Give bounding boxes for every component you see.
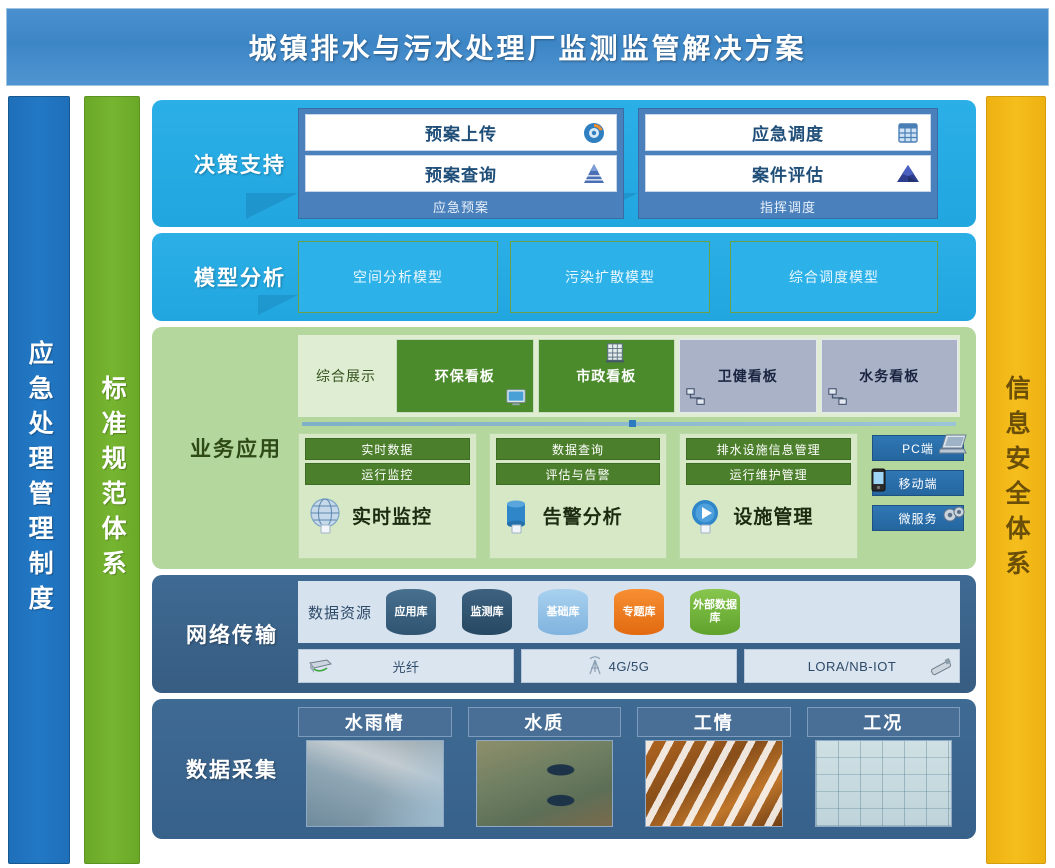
model-box-integrated-dispatch[interactable]: 综合调度模型 <box>730 241 938 313</box>
sensor-module-icon <box>929 656 955 676</box>
database-external-label: 外部数据库 <box>690 599 740 624</box>
client-button-mobile[interactable]: 移动端 <box>872 470 964 496</box>
layer-business-application: 业务应用 综合展示 环保看板 市政看板 <box>152 327 976 569</box>
decision-item-plan-query[interactable]: 预案查询 <box>305 155 617 192</box>
business-column-query: 数据查询 评估与告警 <box>489 433 668 559</box>
dashboard-municipal[interactable]: 市政看板 <box>538 339 676 413</box>
business-chip-data-query[interactable]: 数据查询 <box>496 438 661 460</box>
pillar-standard-system: 标准规范体系 <box>84 96 140 864</box>
database-monitoring[interactable]: 监测库 <box>462 589 512 635</box>
database-foundation-label: 基础库 <box>547 606 580 619</box>
monitor-icon <box>505 386 527 408</box>
database-application[interactable]: 应用库 <box>386 589 436 635</box>
layer-data-acquisition: 数据采集 水雨情 水质 工情 <box>152 699 976 839</box>
network-transport-cellular-label: 4G/5G <box>609 659 650 674</box>
database-external[interactable]: 外部数据库 <box>690 589 740 635</box>
acquisition-card-works-status-title: 工情 <box>694 709 734 735</box>
decision-item-case-assessment-label: 案件评估 <box>752 161 824 186</box>
business-chip-assessment-alarm[interactable]: 评估与告警 <box>496 463 661 485</box>
solution-architecture-diagram: 城镇排水与污水处理厂监测监管解决方案 应急处理管理制度 标准规范体系 信息安全体… <box>0 0 1055 868</box>
business-chip-drainage-facility-info-label: 排水设施信息管理 <box>717 441 821 458</box>
decision-item-emergency-dispatch-label: 应急调度 <box>752 120 824 145</box>
treatment-plant-photo <box>476 740 614 827</box>
business-feature-alarm-analysis[interactable]: 告警分析 <box>496 495 661 535</box>
network-transport-lora-label: LORA/NB-IOT <box>808 659 897 674</box>
refresh-cycle-icon <box>582 121 606 145</box>
business-feature-realtime-monitoring-label: 实时监控 <box>352 502 432 529</box>
acquisition-card-works-status[interactable]: 工情 <box>637 707 791 831</box>
network-transport-list: 光纤 4G/5G LORA/NB-IOT <box>298 649 960 683</box>
network-transport-fiber-label: 光纤 <box>392 657 419 676</box>
page-title-bar: 城镇排水与污水处理厂监测监管解决方案 <box>6 8 1049 86</box>
business-feature-alarm-analysis-label: 告警分析 <box>543 502 623 529</box>
model-box-pollution-diffusion[interactable]: 污染扩散模型 <box>510 241 710 313</box>
business-feature-facility-management[interactable]: 设施管理 <box>686 495 851 535</box>
network-data-resources-caption: 数据资源 <box>308 602 372 623</box>
building-icon <box>604 342 626 364</box>
mobile-phone-icon <box>863 467 893 493</box>
business-feature-facility-management-label: 设施管理 <box>733 502 813 529</box>
business-chip-operation-maintenance-label: 运行维护管理 <box>730 466 808 483</box>
pyramid-icon <box>582 162 606 186</box>
acquisition-card-operating-condition-title: 工况 <box>863 709 903 735</box>
pillar-information-security: 信息安全体系 <box>986 96 1046 864</box>
buried-pipe-photo <box>645 740 783 827</box>
acquisition-card-water-quality[interactable]: 水质 <box>468 707 622 831</box>
acquisition-card-operating-condition[interactable]: 工况 <box>807 707 961 831</box>
layer-data-acquisition-label: 数据采集 <box>162 699 302 839</box>
business-chip-operation-monitoring-label: 运行监控 <box>361 466 413 483</box>
layer-decision-support: 决策支持 预案上传 预案查询 <box>152 100 976 227</box>
layer-stack: 决策支持 预案上传 预案查询 <box>152 100 976 864</box>
decision-group-command-dispatch-caption: 指挥调度 <box>645 196 931 216</box>
business-feature-realtime-monitoring[interactable]: 实时监控 <box>305 495 470 535</box>
business-chip-realtime-data-label: 实时数据 <box>361 441 413 458</box>
model-box-integrated-dispatch-label: 综合调度模型 <box>789 267 879 287</box>
fiber-switch-icon <box>307 656 333 676</box>
decision-item-plan-query-label: 预案查询 <box>425 161 497 186</box>
business-chip-operation-maintenance[interactable]: 运行维护管理 <box>686 463 851 485</box>
model-box-pollution-diffusion-label: 污染扩散模型 <box>565 267 655 287</box>
network-transport-cellular[interactable]: 4G/5G <box>521 649 737 683</box>
acquisition-card-hydrology-head: 水雨情 <box>298 707 452 737</box>
business-section-divider <box>302 422 956 426</box>
business-dashboard-caption: 综合展示 <box>298 335 394 417</box>
database-application-label: 应用库 <box>395 606 428 619</box>
business-column-facility: 排水设施信息管理 运行维护管理 <box>679 433 858 559</box>
layer-business-label: 业务应用 <box>166 327 306 569</box>
decision-item-plan-upload-label: 预案上传 <box>425 120 497 145</box>
client-button-microservice[interactable]: 微服务 <box>872 505 964 531</box>
dashboard-municipal-label: 市政看板 <box>576 366 636 386</box>
globe-icon <box>305 495 345 535</box>
client-button-pc-label: PC端 <box>902 440 934 457</box>
dashboard-water-affairs-label: 水务看板 <box>859 366 919 386</box>
business-chip-drainage-facility-info[interactable]: 排水设施信息管理 <box>686 438 851 460</box>
database-thematic[interactable]: 专题库 <box>614 589 664 635</box>
business-client-buttons: PC端 移动端 <box>872 435 964 540</box>
acquisition-card-operating-condition-head: 工况 <box>807 707 961 737</box>
database-list: 应用库 监测库 基础库 专题库 <box>386 589 740 635</box>
model-box-spatial-analysis-label: 空间分析模型 <box>353 267 443 287</box>
client-button-microservice-label: 微服务 <box>898 510 937 527</box>
dashboard-environmental[interactable]: 环保看板 <box>396 339 534 413</box>
network-node-icon <box>827 386 849 408</box>
business-chip-assessment-alarm-label: 评估与告警 <box>546 466 611 483</box>
acquisition-card-list: 水雨情 水质 工情 <box>298 707 960 831</box>
layer-model-analysis: 模型分析 空间分析模型 污染扩散模型 综合调度模型 <box>152 233 976 321</box>
model-arrow-shadow <box>258 295 298 315</box>
client-button-mobile-label: 移动端 <box>898 475 937 492</box>
decision-group-command-dispatch: 应急调度 案件评估 <box>638 108 938 219</box>
acquisition-card-hydrology-title: 水雨情 <box>345 709 405 735</box>
model-box-spatial-analysis[interactable]: 空间分析模型 <box>298 241 498 313</box>
network-data-resources: 数据资源 应用库 监测库 基础库 <box>298 581 960 643</box>
acquisition-card-hydrology[interactable]: 水雨情 <box>298 707 452 831</box>
scada-diagram <box>815 740 953 827</box>
decision-item-emergency-dispatch[interactable]: 应急调度 <box>645 114 931 151</box>
grid-table-icon <box>896 121 920 145</box>
business-dashboard-strip: 综合展示 环保看板 市政看板 <box>298 335 960 417</box>
client-button-pc[interactable]: PC端 <box>872 435 964 461</box>
acquisition-card-water-quality-head: 水质 <box>468 707 622 737</box>
network-transport-fiber[interactable]: 光纤 <box>298 649 514 683</box>
pillar-emergency-label: 应急处理管理制度 <box>26 340 52 620</box>
network-transport-lora[interactable]: LORA/NB-IOT <box>744 649 960 683</box>
database-icon <box>496 495 536 535</box>
database-monitoring-label: 监测库 <box>471 606 504 619</box>
gear-icon <box>939 502 969 528</box>
business-function-columns: 实时数据 运行监控 <box>298 433 858 559</box>
play-circle-icon <box>686 495 726 535</box>
network-node-icon <box>685 386 707 408</box>
layer-network-label: 网络传输 <box>162 575 302 693</box>
business-chip-realtime-data[interactable]: 实时数据 <box>305 438 470 460</box>
business-chip-data-query-label: 数据查询 <box>552 441 604 458</box>
acquisition-card-works-status-head: 工情 <box>637 707 791 737</box>
decision-item-case-assessment[interactable]: 案件评估 <box>645 155 931 192</box>
business-chip-operation-monitoring[interactable]: 运行监控 <box>305 463 470 485</box>
canal-photo <box>306 740 444 827</box>
page-title: 城镇排水与污水处理厂监测监管解决方案 <box>248 27 806 67</box>
decision-arrow-shadow-left <box>246 193 298 219</box>
antenna-tower-icon <box>582 656 608 676</box>
database-foundation[interactable]: 基础库 <box>538 589 588 635</box>
layer-network-transmission: 网络传输 数据资源 应用库 监测库 基础库 <box>152 575 976 693</box>
dashboard-health-label: 卫健看板 <box>718 366 778 386</box>
dashboard-health[interactable]: 卫健看板 <box>679 339 817 413</box>
dashboard-environmental-label: 环保看板 <box>435 366 495 386</box>
database-thematic-label: 专题库 <box>623 606 656 619</box>
dashboard-water-affairs[interactable]: 水务看板 <box>821 339 959 413</box>
decision-group-emergency-plan-caption: 应急预案 <box>305 196 617 216</box>
acquisition-card-water-quality-title: 水质 <box>524 709 564 735</box>
laptop-icon <box>939 432 969 458</box>
pillar-emergency-management: 应急处理管理制度 <box>8 96 70 864</box>
pyramid-dark-icon <box>896 162 920 186</box>
business-divider-marker <box>629 420 636 427</box>
business-column-realtime: 实时数据 运行监控 <box>298 433 477 559</box>
pillar-security-label: 信息安全体系 <box>1003 375 1029 585</box>
decision-item-plan-upload[interactable]: 预案上传 <box>305 114 617 151</box>
decision-group-emergency-plan: 预案上传 预案查询 <box>298 108 624 219</box>
pillar-standard-label: 标准规范体系 <box>99 375 125 585</box>
